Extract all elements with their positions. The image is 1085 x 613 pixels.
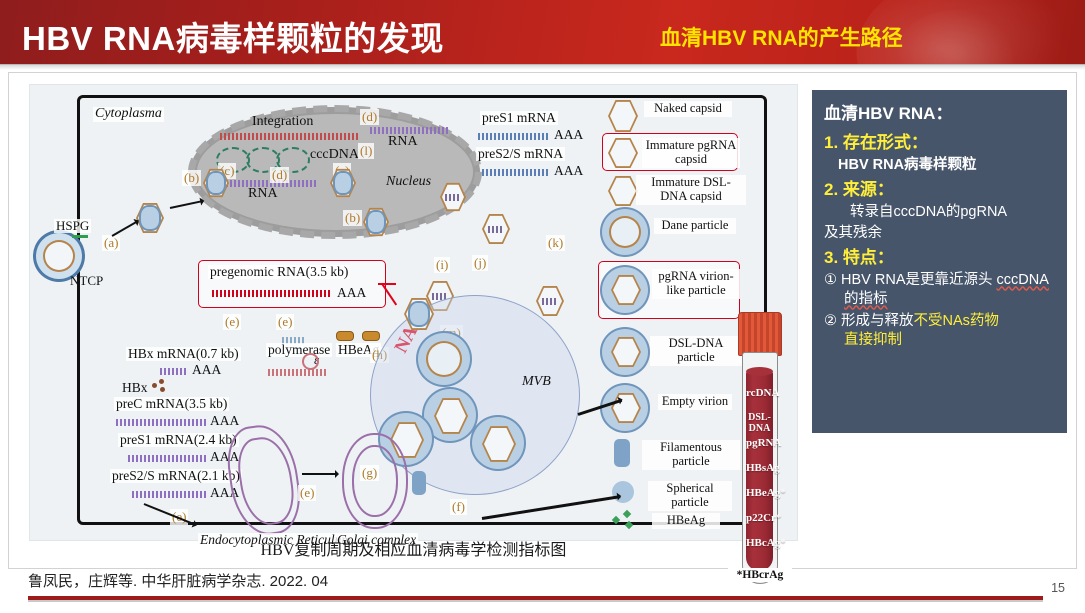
- nuclear-rna-strand-icon-2: [370, 127, 450, 134]
- panel-feature-2: ② 形成与释放不受NAs药物 直接抑制: [824, 312, 1055, 350]
- label-hspg: HSPG: [54, 219, 91, 233]
- dane-particle-entry-core-icon: [45, 242, 73, 270]
- hbeag-dimer-icon-2: [362, 331, 380, 341]
- capsid-core-icon-3: [368, 212, 384, 232]
- hbx-mrna-strand-icon: [160, 368, 188, 375]
- label-pregenomic-rna: pregenomic RNA(3.5 kb): [208, 265, 350, 279]
- footer-rule-secondary: [28, 600, 1043, 602]
- transcript-hbx-tail: AAA: [190, 363, 223, 377]
- mvb-dane-core-1: [428, 343, 460, 375]
- capsid-core-icon: [208, 173, 224, 193]
- step-d-nucleus: (d): [270, 167, 289, 183]
- tube-footnote: *HBcrAg: [728, 568, 792, 582]
- label-nuclear-rna-2: RNA: [386, 135, 420, 150]
- legend-label-spherical-particle: Spherical particle: [648, 481, 732, 511]
- tube-marker-dsl-dna: DSL-DNA: [746, 412, 773, 434]
- step-a: (a): [102, 235, 120, 251]
- panel-section-1-sub: HBV RNA病毒样颗粒: [838, 156, 1055, 175]
- nuclear-transcript-pres2s-label: preS2/S mRNA: [476, 147, 565, 161]
- pgrna-strand-icon: [212, 290, 332, 297]
- panel-feature-2-pre: 形成与释放: [841, 313, 914, 329]
- panel-feature-1: ① HBV RNA是更靠近源头 cccDNA的指标: [824, 271, 1055, 309]
- slide: HBV RNA病毒样颗粒的发现 血清HBV RNA的产生路径 Cytoplasm…: [0, 0, 1085, 613]
- panel-feature-1-marker: ①: [824, 272, 837, 288]
- tube-cap-icon: [738, 312, 782, 356]
- panel-section-2-body-cont: 及其残余: [824, 225, 882, 241]
- step-e-golgi: (e): [298, 485, 316, 501]
- tube-marker-hbeag: HBeAg*: [746, 487, 773, 499]
- step-e-hbeag: (e): [276, 314, 294, 330]
- step-j: (j): [472, 255, 488, 271]
- nuclear-pres1-strand-icon: [478, 133, 550, 140]
- dsl-capsid-dna-icon: [488, 226, 504, 233]
- label-nuclear-rna: RNA: [246, 187, 280, 202]
- step-d-integration: (d): [360, 109, 379, 125]
- integrated-dna-strand-icon: [220, 133, 360, 140]
- epsilon-loop-strand-icon: [268, 369, 326, 376]
- label-ntcp: NTCP: [68, 274, 105, 288]
- label-cytoplasma: Cytoplasma: [93, 107, 164, 122]
- legend-dane-core-icon: [611, 218, 639, 246]
- nuclear-transcript-pres2s-tail: AAA: [552, 164, 585, 178]
- step-e-pol: (e): [223, 314, 241, 330]
- legend-label-dsl-dna-particle: DSL-DNA particle: [650, 336, 742, 366]
- tube-marker-pgrna: pgRNA: [746, 437, 773, 449]
- page-title: HBV RNA病毒样颗粒的发现: [22, 12, 444, 60]
- legend-label-pgrna-virion-like-particle: pgRNA virion-like particle: [652, 269, 740, 299]
- page-subtitle: 血清HBV RNA的产生路径: [660, 22, 903, 52]
- header-underline: [0, 64, 1085, 70]
- tube-marker-hbsag: HBsAg: [746, 462, 773, 474]
- label-mvb: MVB: [520, 375, 553, 390]
- panel-section-3-title: 3. 特点：: [824, 247, 1055, 268]
- hspg-receptor-icon: [72, 235, 88, 238]
- hbx-protein-dot-icon-2: [159, 379, 164, 384]
- epsilon-stemloop-icon: [302, 353, 319, 370]
- capsid-cytosol-core-icon: [141, 207, 159, 229]
- panel-section-2-title: 2. 来源：: [824, 179, 1055, 200]
- slide-header: HBV RNA病毒样颗粒的发现 血清HBV RNA的产生路径: [0, 0, 1085, 64]
- legend-filamentous-particle-icon: [614, 439, 630, 467]
- pres2s-mrna-strand-icon: [132, 491, 206, 498]
- panel-feature-2-marker: ②: [824, 313, 837, 329]
- nuclear-transcript-pres1-label: preS1 mRNA: [480, 111, 558, 125]
- nas-inhibition-cap-icon: [378, 283, 396, 285]
- panel-feature-1-text: HBV RNA是更靠近源头: [841, 272, 992, 288]
- panel-feature-2-highlight: 不受NAs药物: [914, 313, 999, 329]
- figure-caption: HBV复制周期及相应血清病毒学检测指标图: [29, 536, 798, 560]
- page-number: 15: [1051, 581, 1065, 595]
- legend-label-filamentous-particle: Filamentous particle: [642, 440, 740, 470]
- label-cccdna: cccDNA: [308, 148, 361, 163]
- legend-label-empty-virion: Empty virion: [658, 394, 732, 410]
- tube-marker-p22cr: p22Cr*: [746, 512, 773, 524]
- arrow-er-to-golgi: [302, 473, 338, 475]
- panel-heading: 血清HBV RNA：: [824, 104, 1055, 124]
- transcript-prec-tail: AAA: [208, 414, 241, 428]
- step-l: (l): [358, 143, 374, 159]
- pres1-mrna-strand-icon: [128, 455, 206, 462]
- tube-marker-rcdna: rcDNA: [746, 387, 773, 399]
- panel-section-2-body: 转录自cccDNA的pgRNA: [824, 204, 1007, 220]
- summary-panel: 血清HBV RNA： 1. 存在形式： HBV RNA病毒样颗粒 2. 来源： …: [812, 90, 1067, 433]
- step-i: (i): [434, 257, 450, 273]
- legend-spherical-particle-icon: [612, 481, 634, 503]
- legend-label-dane-particle: Dane particle: [654, 218, 736, 234]
- step-b-left: (b): [182, 170, 201, 186]
- golgi-complex-icon-2: [352, 445, 398, 517]
- nuclear-pres2s-strand-icon: [482, 169, 548, 176]
- capsid-recycle-dna-icon: [445, 194, 459, 201]
- capsid-core-icon-2: [335, 173, 351, 193]
- hbx-protein-dot-icon-3: [160, 387, 165, 392]
- hbeag-dimer-icon: [336, 331, 354, 341]
- label-pgrna-tail: AAA: [335, 286, 368, 300]
- hbv-lifecycle-diagram: Cytoplasma Integration cccDNA RNA RNA Nu…: [29, 84, 798, 541]
- step-f: (f): [450, 499, 467, 515]
- product-polymerase-label: polymerase: [266, 343, 332, 357]
- source-citation: 鲁凤民，庄辉等. 中华肝脏病学杂志. 2022. 04: [28, 570, 328, 591]
- label-nucleus: Nucleus: [384, 175, 433, 190]
- label-integration: Integration: [250, 115, 315, 130]
- panel-feature-2-highlight2: 直接抑制: [844, 331, 1055, 350]
- panel-section-1-title: 1. 存在形式：: [824, 132, 1055, 153]
- legend-label-immature-pgrna-capsid: Immature pgRNA capsid: [642, 138, 740, 168]
- legend-label-naked-capsid: Naked capsid: [644, 101, 732, 117]
- product-hbx-label: HBx: [120, 381, 150, 395]
- transcript-prec-label: preC mRNA(3.5 kb): [114, 397, 229, 411]
- nuclear-transcript-pres1-tail: AAA: [552, 128, 585, 142]
- hbx-protein-dot-icon: [152, 383, 157, 388]
- step-k: (k): [546, 235, 565, 251]
- legend-label-hbeag: HBeAg: [652, 513, 720, 529]
- mvb-filamentous-particle-icon: [412, 471, 426, 495]
- step-b-right: (b): [343, 210, 362, 226]
- mvb-capsid-core-1: [410, 303, 428, 325]
- prec-mrna-strand-icon: [116, 419, 206, 426]
- transcript-pres2s-label: preS2/S mRNA(2.1 kb): [110, 469, 242, 483]
- capsid-k-dna-icon: [542, 298, 558, 305]
- legend-label-immature-dsl-capsid: Immature DSL-DNA capsid: [636, 175, 746, 205]
- transcript-hbx-label: HBx mRNA(0.7 kb): [126, 347, 241, 361]
- transcript-pres1-label: preS1 mRNA(2.4 kb): [118, 433, 239, 447]
